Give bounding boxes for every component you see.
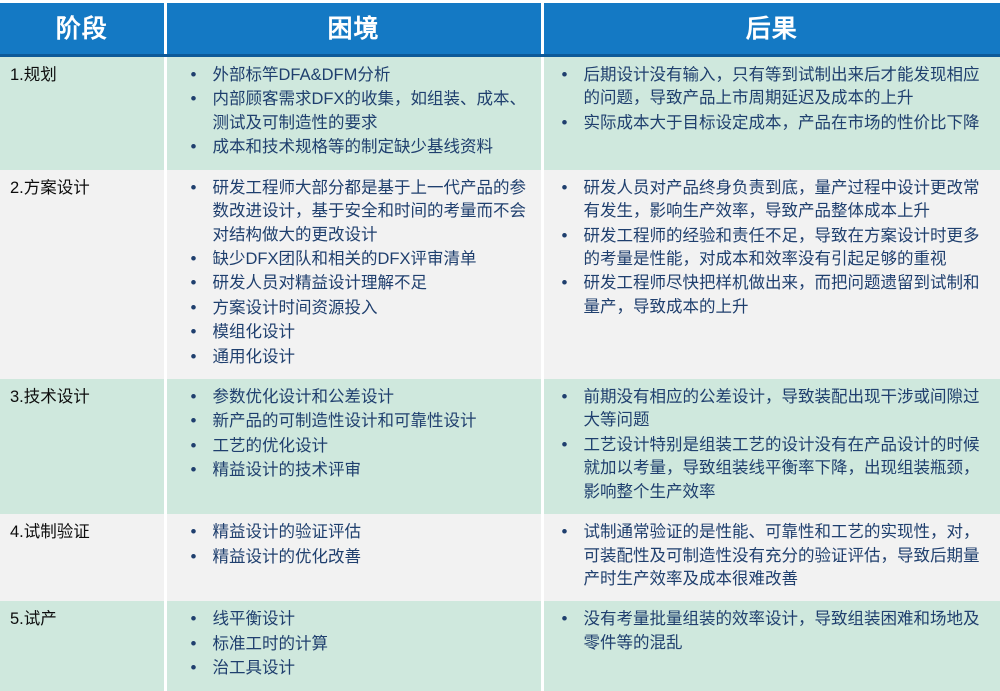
dfx-stage-matrix-table: 阶段 困境 后果 1.规划 外部标竿DFA&DFM分析 内部顾客需求DFX的收集…	[0, 3, 1000, 691]
column-header-stage: 阶段	[0, 3, 165, 56]
result-list: 研发人员对产品终身负责到底，量产过程中设计更改常有发生，影响生产效率，导致产品整…	[550, 177, 995, 320]
stage-cell: 1.规划	[0, 56, 165, 170]
issue-cell: 研发工程师大部分都是基于上一代产品的参数改进设计，基于安全和时间的考量而不会对结…	[165, 170, 542, 379]
list-item: 内部顾客需求DFX的收集，如组装、成本、测试及可制造性的要求	[191, 88, 535, 135]
result-cell: 试制通常验证的是性能、可靠性和工艺的实现性，对，可装配性及可制造性没有充分的验证…	[542, 514, 1000, 601]
list-item: 治工具设计	[191, 657, 535, 680]
list-item: 工艺的优化设计	[191, 435, 535, 458]
stage-cell: 5.试产	[0, 601, 165, 690]
issue-cell: 外部标竿DFA&DFM分析 内部顾客需求DFX的收集，如组装、成本、测试及可制造…	[165, 56, 542, 170]
column-header-result: 后果	[542, 3, 1000, 56]
list-item: 试制通常验证的是性能、可靠性和工艺的实现性，对，可装配性及可制造性没有充分的验证…	[562, 521, 995, 591]
list-item: 没有考量批量组装的效率设计，导致组装困难和场地及零件等的混乱	[562, 608, 995, 655]
stage-cell: 4.试制验证	[0, 514, 165, 601]
list-item: 参数优化设计和公差设计	[191, 386, 535, 409]
issue-cell: 线平衡设计 标准工时的计算 治工具设计	[165, 601, 542, 690]
table-row: 2.方案设计 研发工程师大部分都是基于上一代产品的参数改进设计，基于安全和时间的…	[0, 170, 1000, 379]
stage-cell: 3.技术设计	[0, 379, 165, 514]
table-row: 3.技术设计 参数优化设计和公差设计 新产品的可制造性设计和可靠性设计 工艺的优…	[0, 379, 1000, 514]
issue-list: 研发工程师大部分都是基于上一代产品的参数改进设计，基于安全和时间的考量而不会对结…	[173, 177, 535, 369]
list-item: 精益设计的验证评估	[191, 521, 535, 544]
table-header: 阶段 困境 后果	[0, 3, 1000, 56]
list-item: 精益设计的优化改善	[191, 546, 535, 569]
header-row: 阶段 困境 后果	[0, 3, 1000, 56]
list-item: 外部标竿DFA&DFM分析	[191, 64, 535, 87]
result-cell: 没有考量批量组装的效率设计，导致组装困难和场地及零件等的混乱	[542, 601, 1000, 690]
list-item: 缺少DFX团队和相关的DFX评审清单	[191, 248, 535, 271]
list-item: 实际成本大于目标设定成本，产品在市场的性价比下降	[562, 112, 995, 135]
stage-cell: 2.方案设计	[0, 170, 165, 379]
list-item: 精益设计的技术评审	[191, 459, 535, 482]
list-item: 研发人员对精益设计理解不足	[191, 272, 535, 295]
list-item: 研发工程师尽快把样机做出来，而把问题遗留到试制和量产，导致成本的上升	[562, 272, 995, 319]
result-cell: 研发人员对产品终身负责到底，量产过程中设计更改常有发生，影响生产效率，导致产品整…	[542, 170, 1000, 379]
list-item: 成本和技术规格等的制定缺少基线资料	[191, 136, 535, 159]
list-item: 研发工程师大部分都是基于上一代产品的参数改进设计，基于安全和时间的考量而不会对结…	[191, 177, 535, 247]
issue-cell: 精益设计的验证评估 精益设计的优化改善	[165, 514, 542, 601]
result-list: 后期设计没有输入，只有等到试制出来后才能发现相应的问题，导致产品上市周期延迟及成…	[550, 64, 995, 135]
column-header-issue: 困境	[165, 3, 542, 56]
result-cell: 后期设计没有输入，只有等到试制出来后才能发现相应的问题，导致产品上市周期延迟及成…	[542, 56, 1000, 170]
issue-cell: 参数优化设计和公差设计 新产品的可制造性设计和可靠性设计 工艺的优化设计 精益设…	[165, 379, 542, 514]
result-cell: 前期没有相应的公差设计，导致装配出现干涉或间隙过大等问题 工艺设计特别是组装工艺…	[542, 379, 1000, 514]
table-row: 5.试产 线平衡设计 标准工时的计算 治工具设计 没有考量批量组装的效率设计，导…	[0, 601, 1000, 690]
list-item: 前期没有相应的公差设计，导致装配出现干涉或间隙过大等问题	[562, 386, 995, 433]
table-row: 1.规划 外部标竿DFA&DFM分析 内部顾客需求DFX的收集，如组装、成本、测…	[0, 56, 1000, 170]
result-list: 没有考量批量组装的效率设计，导致组装困难和场地及零件等的混乱	[550, 608, 995, 655]
list-item: 研发工程师的经验和责任不足，导致在方案设计时更多的考量是性能，对成本和效率没有引…	[562, 225, 995, 272]
issue-list: 参数优化设计和公差设计 新产品的可制造性设计和可靠性设计 工艺的优化设计 精益设…	[173, 386, 535, 483]
list-item: 后期设计没有输入，只有等到试制出来后才能发现相应的问题，导致产品上市周期延迟及成…	[562, 64, 995, 111]
list-item: 工艺设计特别是组装工艺的设计没有在产品设计的时候就加以考量，导致组装线平衡率下降…	[562, 434, 995, 504]
list-item: 通用化设计	[191, 346, 535, 369]
issue-list: 精益设计的验证评估 精益设计的优化改善	[173, 521, 535, 569]
list-item: 新产品的可制造性设计和可靠性设计	[191, 410, 535, 433]
list-item: 模组化设计	[191, 321, 535, 344]
list-item: 标准工时的计算	[191, 633, 535, 656]
issue-list: 线平衡设计 标准工时的计算 治工具设计	[173, 608, 535, 680]
table-row: 4.试制验证 精益设计的验证评估 精益设计的优化改善 试制通常验证的是性能、可靠…	[0, 514, 1000, 601]
result-list: 前期没有相应的公差设计，导致装配出现干涉或间隙过大等问题 工艺设计特别是组装工艺…	[550, 386, 995, 504]
list-item: 研发人员对产品终身负责到底，量产过程中设计更改常有发生，影响生产效率，导致产品整…	[562, 177, 995, 224]
list-item: 方案设计时间资源投入	[191, 297, 535, 320]
list-item: 线平衡设计	[191, 608, 535, 631]
table-body: 1.规划 外部标竿DFA&DFM分析 内部顾客需求DFX的收集，如组装、成本、测…	[0, 56, 1000, 691]
dfx-matrix-container: 阶段 困境 后果 1.规划 外部标竿DFA&DFM分析 内部顾客需求DFX的收集…	[0, 0, 1000, 628]
result-list: 试制通常验证的是性能、可靠性和工艺的实现性，对，可装配性及可制造性没有充分的验证…	[550, 521, 995, 591]
issue-list: 外部标竿DFA&DFM分析 内部顾客需求DFX的收集，如组装、成本、测试及可制造…	[173, 64, 535, 160]
